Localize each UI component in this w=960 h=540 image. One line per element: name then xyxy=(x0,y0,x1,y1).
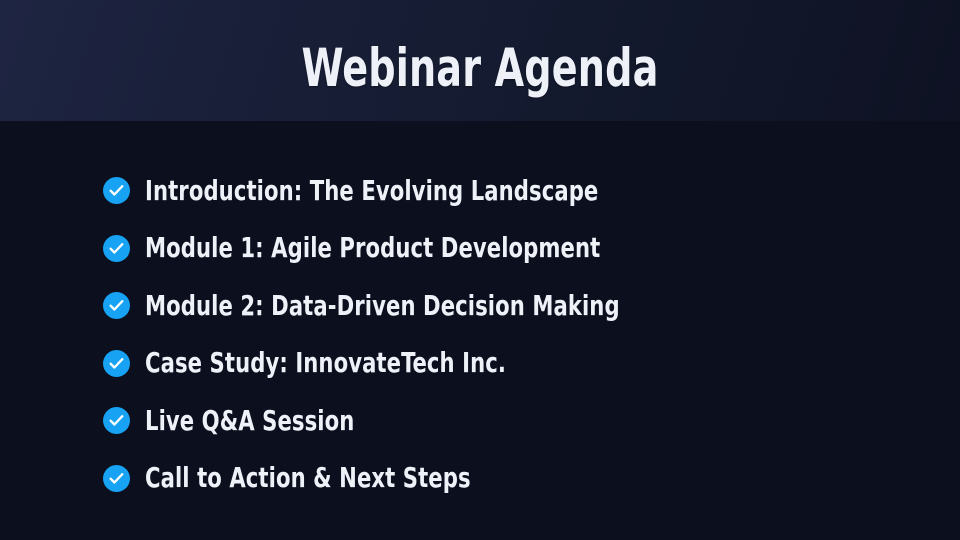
list-item[interactable]: Case Study: InnovateTech Inc. xyxy=(103,350,903,377)
check-circle-icon xyxy=(103,465,130,492)
presentation-slide: Webinar Agenda Introduction: The Evolvin… xyxy=(0,0,960,540)
check-circle-icon xyxy=(103,350,130,377)
agenda-item-label: Module 2: Data-Driven Decision Making xyxy=(145,292,620,320)
agenda-item-label: Introduction: The Evolving Landscape xyxy=(145,177,598,205)
agenda-list: Introduction: The Evolving Landscape Mod… xyxy=(103,177,903,523)
check-circle-icon xyxy=(103,177,130,204)
page-title: Webinar Agenda xyxy=(96,38,864,100)
check-circle-icon xyxy=(103,235,130,262)
list-item[interactable]: Call to Action & Next Steps xyxy=(103,465,903,492)
agenda-item-label: Call to Action & Next Steps xyxy=(145,464,471,492)
slide-body: Introduction: The Evolving Landscape Mod… xyxy=(0,121,960,540)
agenda-item-label: Live Q&A Session xyxy=(145,407,354,435)
check-circle-icon xyxy=(103,407,130,434)
list-item[interactable]: Module 1: Agile Product Development xyxy=(103,235,903,262)
agenda-item-label: Module 1: Agile Product Development xyxy=(145,234,600,262)
agenda-item-label: Case Study: InnovateTech Inc. xyxy=(145,349,506,377)
list-item[interactable]: Introduction: The Evolving Landscape xyxy=(103,177,903,204)
list-item[interactable]: Module 2: Data-Driven Decision Making xyxy=(103,292,903,319)
list-item[interactable]: Live Q&A Session xyxy=(103,407,903,434)
slide-header: Webinar Agenda xyxy=(0,0,960,121)
check-circle-icon xyxy=(103,292,130,319)
